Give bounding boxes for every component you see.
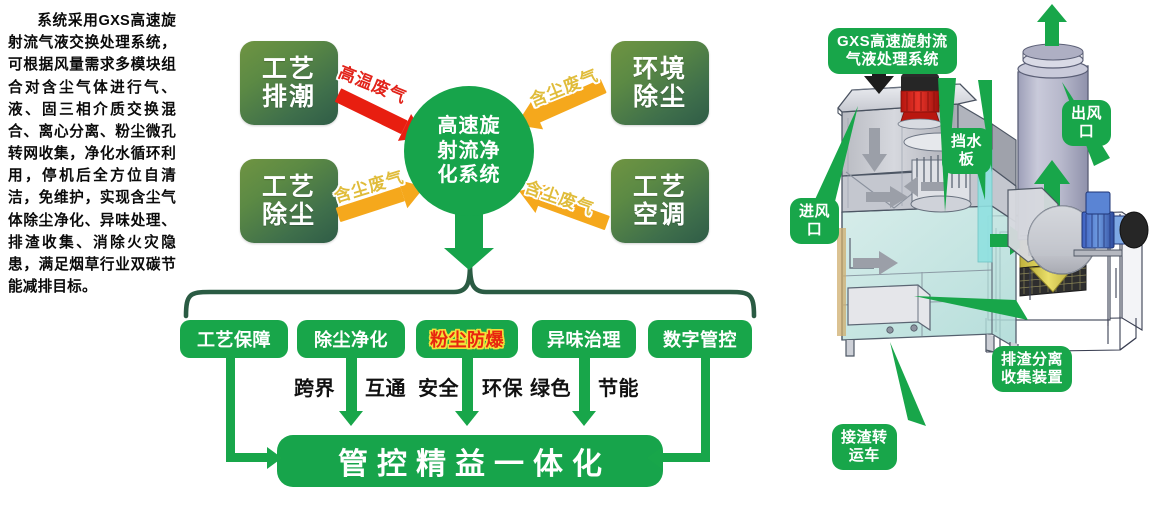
source-line-2: 空调 bbox=[633, 201, 687, 229]
pillar-box-3: 粉尘防爆 bbox=[416, 320, 518, 358]
callout-air-outlet: 出风 口 bbox=[1062, 100, 1111, 146]
pillar-box-1: 工艺保障 bbox=[180, 320, 288, 358]
leader-cart bbox=[890, 342, 926, 426]
source-line-2: 除尘 bbox=[633, 83, 687, 111]
infographic-canvas: 系统采用GXS高速旋射流气液交换处理系统，可根据风量需求多模块组合对含尘气体进行… bbox=[0, 0, 1150, 506]
arrow-shaft bbox=[346, 358, 357, 412]
callout-gxs-system: GXS高速旋射流 气液处理系统 bbox=[828, 28, 957, 74]
callout-slag-transfer-cart: 接渣转 运车 bbox=[832, 424, 897, 470]
intro-paragraph: 系统采用GXS高速旋射流气液交换处理系统，可根据风量需求多模块组合对含尘气体进行… bbox=[8, 10, 176, 298]
arrow-shaft bbox=[462, 358, 473, 412]
callout-line-2: 口 bbox=[1071, 123, 1102, 141]
side-arrow-right bbox=[640, 358, 710, 470]
source-box-process-hvac: 工艺 空调 bbox=[611, 159, 709, 243]
core-line-3: 化系统 bbox=[438, 163, 501, 187]
callout-line-1: 挡水 bbox=[951, 133, 982, 151]
core-circle: 高速旋 射流净 化系统 bbox=[404, 86, 534, 216]
side-arrow-left bbox=[226, 358, 296, 470]
arrow-head bbox=[339, 411, 363, 426]
callout-water-baffle: 挡水 板 bbox=[942, 128, 991, 174]
callout-line-2: 运车 bbox=[841, 447, 888, 465]
source-line-1: 工艺 bbox=[633, 173, 687, 201]
pillar-box-4: 异味治理 bbox=[532, 320, 636, 358]
pillar-label: 除尘净化 bbox=[314, 326, 388, 352]
callout-line-2: 板 bbox=[951, 151, 982, 169]
source-box-ambient-dedust: 环境 除尘 bbox=[611, 41, 709, 125]
keyword-1: 跨界 bbox=[294, 372, 335, 401]
callout-line-2: 口 bbox=[799, 221, 830, 239]
callout-line-1: GXS高速旋射流 bbox=[837, 33, 948, 51]
keyword-4: 环保 bbox=[482, 372, 523, 401]
callout-line-1: 排渣分离 bbox=[1001, 351, 1063, 369]
arrow-shaft-horizontal bbox=[226, 453, 268, 462]
callout-slag-separation: 排渣分离 收集装置 bbox=[992, 346, 1072, 392]
pillar-label: 异味治理 bbox=[547, 326, 621, 352]
callout-line-2: 收集装置 bbox=[1001, 369, 1063, 387]
source-line-1: 工艺 bbox=[262, 55, 316, 83]
source-box-process-dedust: 工艺 除尘 bbox=[240, 159, 338, 243]
arrow-head bbox=[647, 447, 662, 469]
callout-line-1: 接渣转 bbox=[841, 429, 888, 447]
pillar-label: 粉尘防爆 bbox=[430, 326, 504, 352]
arrow-shaft-vertical bbox=[226, 358, 235, 462]
down-arrow-3 bbox=[462, 358, 473, 426]
source-line-2: 排潮 bbox=[262, 83, 316, 111]
callout-line-2: 气液处理系统 bbox=[837, 51, 948, 69]
arrow-head bbox=[455, 411, 479, 426]
keyword-3: 安全 bbox=[418, 372, 459, 401]
arrow-shaft-horizontal bbox=[662, 453, 706, 462]
down-arrow-4 bbox=[579, 358, 590, 426]
source-line-1: 环境 bbox=[633, 55, 687, 83]
callout-line-1: 出风 bbox=[1071, 105, 1102, 123]
arrow-shaft bbox=[579, 358, 590, 412]
core-line-2: 射流净 bbox=[438, 139, 501, 163]
arrow-shaft-vertical bbox=[701, 358, 710, 462]
pillar-box-2: 除尘净化 bbox=[297, 320, 405, 358]
keyword-5: 绿色 bbox=[530, 372, 571, 401]
keyword-2: 互通 bbox=[365, 372, 406, 401]
equipment-illustration: GXS高速旋射流 气液处理系统 出风 口 挡水 板 进风 口 排渣分离 收集装置… bbox=[790, 0, 1150, 506]
source-line-1: 工艺 bbox=[262, 173, 316, 201]
arrow-head bbox=[267, 447, 282, 469]
down-arrow-2 bbox=[346, 358, 357, 426]
source-box-process-dehumidify: 工艺 排潮 bbox=[240, 41, 338, 125]
callout-line-1: 进风 bbox=[799, 203, 830, 221]
core-line-1: 高速旋 bbox=[438, 114, 501, 138]
keyword-6: 节能 bbox=[598, 372, 639, 401]
arrow-head bbox=[572, 411, 596, 426]
callout-air-inlet: 进风 口 bbox=[790, 198, 839, 244]
leader-slag bbox=[914, 296, 1028, 320]
summary-banner: 管控精益一体化 bbox=[277, 435, 663, 487]
source-line-2: 除尘 bbox=[262, 201, 316, 229]
pillar-label: 工艺保障 bbox=[197, 326, 271, 352]
pillar-label: 数字管控 bbox=[663, 326, 737, 352]
core-arrow-head bbox=[444, 248, 494, 270]
pillar-box-5: 数字管控 bbox=[648, 320, 752, 358]
